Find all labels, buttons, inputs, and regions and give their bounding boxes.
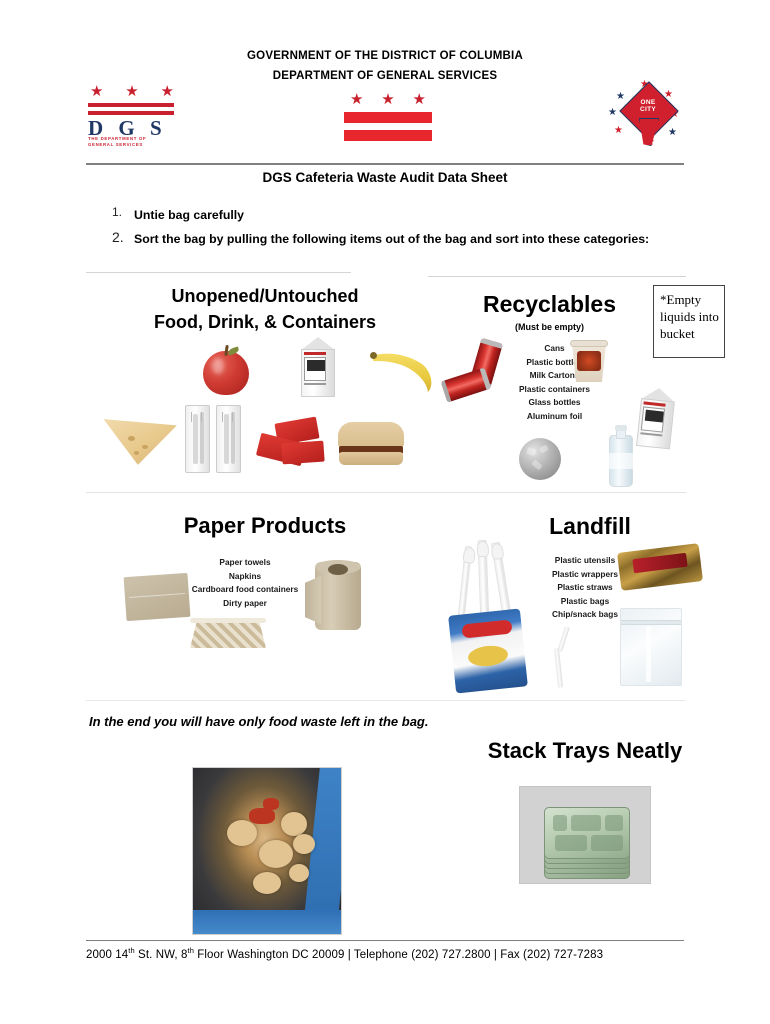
instructions-list: 1. Untie bag carefully 2. Sort the bag b… [112,205,652,253]
soup-cup-image [570,340,608,382]
soda-cans-image [453,340,511,402]
cardboard-food-tray-image [190,618,266,652]
water-bottle-image [608,425,634,487]
banana-image [370,350,436,396]
food-waste-bag-photo [192,767,342,935]
dgs-bar-bottom [88,111,174,115]
section-divider-lower [86,700,686,701]
dgs-subtitle: THE DEPARTMENT OF GENERAL SERVICES [88,136,178,147]
one-city-logo: ★ ★ ★ ★ ★ ★ ★ ★ ONE CITY [606,82,690,150]
one-city-text: ONE CITY [633,99,663,113]
list-item: Plastic bags [520,595,650,609]
page-title: DGS Cafeteria Waste Audit Data Sheet [0,170,770,185]
milk-carton-recyclable-image [633,386,683,452]
one-city-line2: CITY [633,106,663,113]
footer-address: 2000 14th St. NW, 8th Floor Washington D… [86,946,686,961]
dgs-stars: ★ ★ ★ [90,84,174,100]
dc-flag-stars: ★ ★ ★ [350,92,426,108]
dgs-subtitle-line2: GENERAL SERVICES [88,142,178,148]
unopened-heading-line2: Food, Drink, & Containers [100,309,430,335]
unopened-heading-line1: Unopened/Untouched [100,283,430,309]
list-item: Aluminum foil [492,410,617,424]
dc-flag-bar-top [344,112,432,123]
ziplock-bag-image [620,608,682,686]
dgs-bar-top [88,103,174,107]
plastic-straw-image [545,626,581,688]
aluminum-foil-ball-image [519,438,563,482]
list-item: Napkins [165,570,325,584]
section-heading-trays: Stack Trays Neatly [455,738,715,764]
apple-image [203,345,249,395]
footer-address-part1: 2000 14 [86,949,128,961]
empty-liquids-note: *Empty liquids into bucket [653,285,725,358]
stacked-trays-photo [519,786,651,884]
sandwich-image [338,422,404,466]
step-number: 2. [112,229,134,249]
government-header: GOVERNMENT OF THE DISTRICT OF COLUMBIA D… [0,46,770,86]
footer-address-part3: Floor Washington DC 20009 | Telephone (2… [194,949,603,961]
section-divider-left [86,272,351,273]
list-item: 2. Sort the bag by pulling the following… [112,229,652,249]
wrapped-utensils-image [185,405,247,473]
star-icon: ★ [350,92,363,108]
end-note-text: In the end you will have only food waste… [89,710,439,734]
step-text: Untie bag carefully [134,205,244,225]
star-icon: ★ [90,84,103,99]
document-page: GOVERNMENT OF THE DISTRICT OF COLUMBIA D… [0,0,770,1024]
star-icon: ★ [616,92,625,102]
dc-flag-logo: ★ ★ ★ [344,92,432,140]
ketchup-packets-image [256,420,326,472]
dc-flag-bar-bottom [344,130,432,141]
chip-bag-image [452,612,524,690]
paper-towel-roll-image [305,562,361,630]
list-item: Cardboard food containers [165,583,325,597]
star-icon: ★ [608,108,617,118]
list-item: 1. Untie bag carefully [112,205,652,225]
footer-address-part2: St. NW, 8 [135,949,188,961]
section-heading-landfill: Landfill [500,513,680,540]
section-heading-recyclables: Recyclables [452,291,647,317]
header-line-government: GOVERNMENT OF THE DISTRICT OF COLUMBIA [0,46,770,66]
section-divider-right [428,276,686,277]
dgs-logo: ★ ★ ★ D G S THE DEPARTMENT OF GENERAL SE… [86,84,178,146]
star-icon: ★ [668,128,677,138]
section-divider-middle [86,492,686,493]
header-divider [86,163,684,165]
milk-carton-image [298,337,338,397]
one-city-line1: ONE [633,99,663,106]
star-icon: ★ [381,92,394,108]
step-text: Sort the bag by pulling the following it… [134,229,649,249]
section-heading-unopened: Unopened/Untouched Food, Drink, & Contai… [100,283,430,335]
pizza-slice-image [102,415,180,467]
star-icon: ★ [614,126,623,136]
paper-napkin-image [125,575,189,621]
list-item: Paper towels [165,556,325,570]
star-icon: ★ [125,84,138,99]
recyclables-subheading: (Must be empty) [452,322,647,332]
star-icon: ★ [161,84,174,99]
footer-divider [86,940,684,941]
star-icon: ★ [413,92,426,108]
section-heading-paper: Paper Products [120,513,410,539]
candy-wrapper-image [619,548,701,590]
step-number: 1. [112,205,134,225]
